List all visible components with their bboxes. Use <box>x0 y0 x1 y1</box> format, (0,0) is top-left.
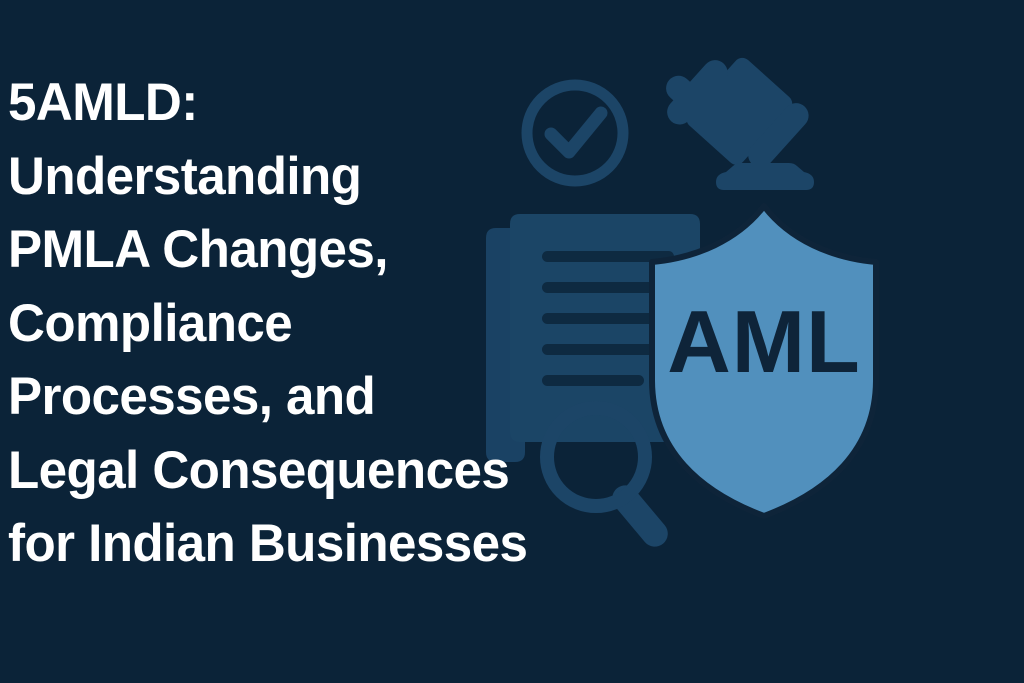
title-line-1: 5AMLD: <box>8 66 587 140</box>
title-line-3: PMLA Changes, <box>8 213 587 287</box>
title-line-2: Understanding <box>8 140 587 214</box>
title-line-4: Compliance <box>8 287 587 361</box>
title-line-5: Processes, and <box>8 360 587 434</box>
shield-label: AML <box>667 292 861 391</box>
title-line-6: Legal Consequences <box>8 434 587 508</box>
page-title: 5AMLD: Understanding PMLA Changes, Compl… <box>8 66 608 581</box>
title-line-7: for Indian Businesses <box>8 507 587 581</box>
hero-banner: AML 5AMLD: Understanding PMLA Changes, C… <box>0 0 1024 683</box>
